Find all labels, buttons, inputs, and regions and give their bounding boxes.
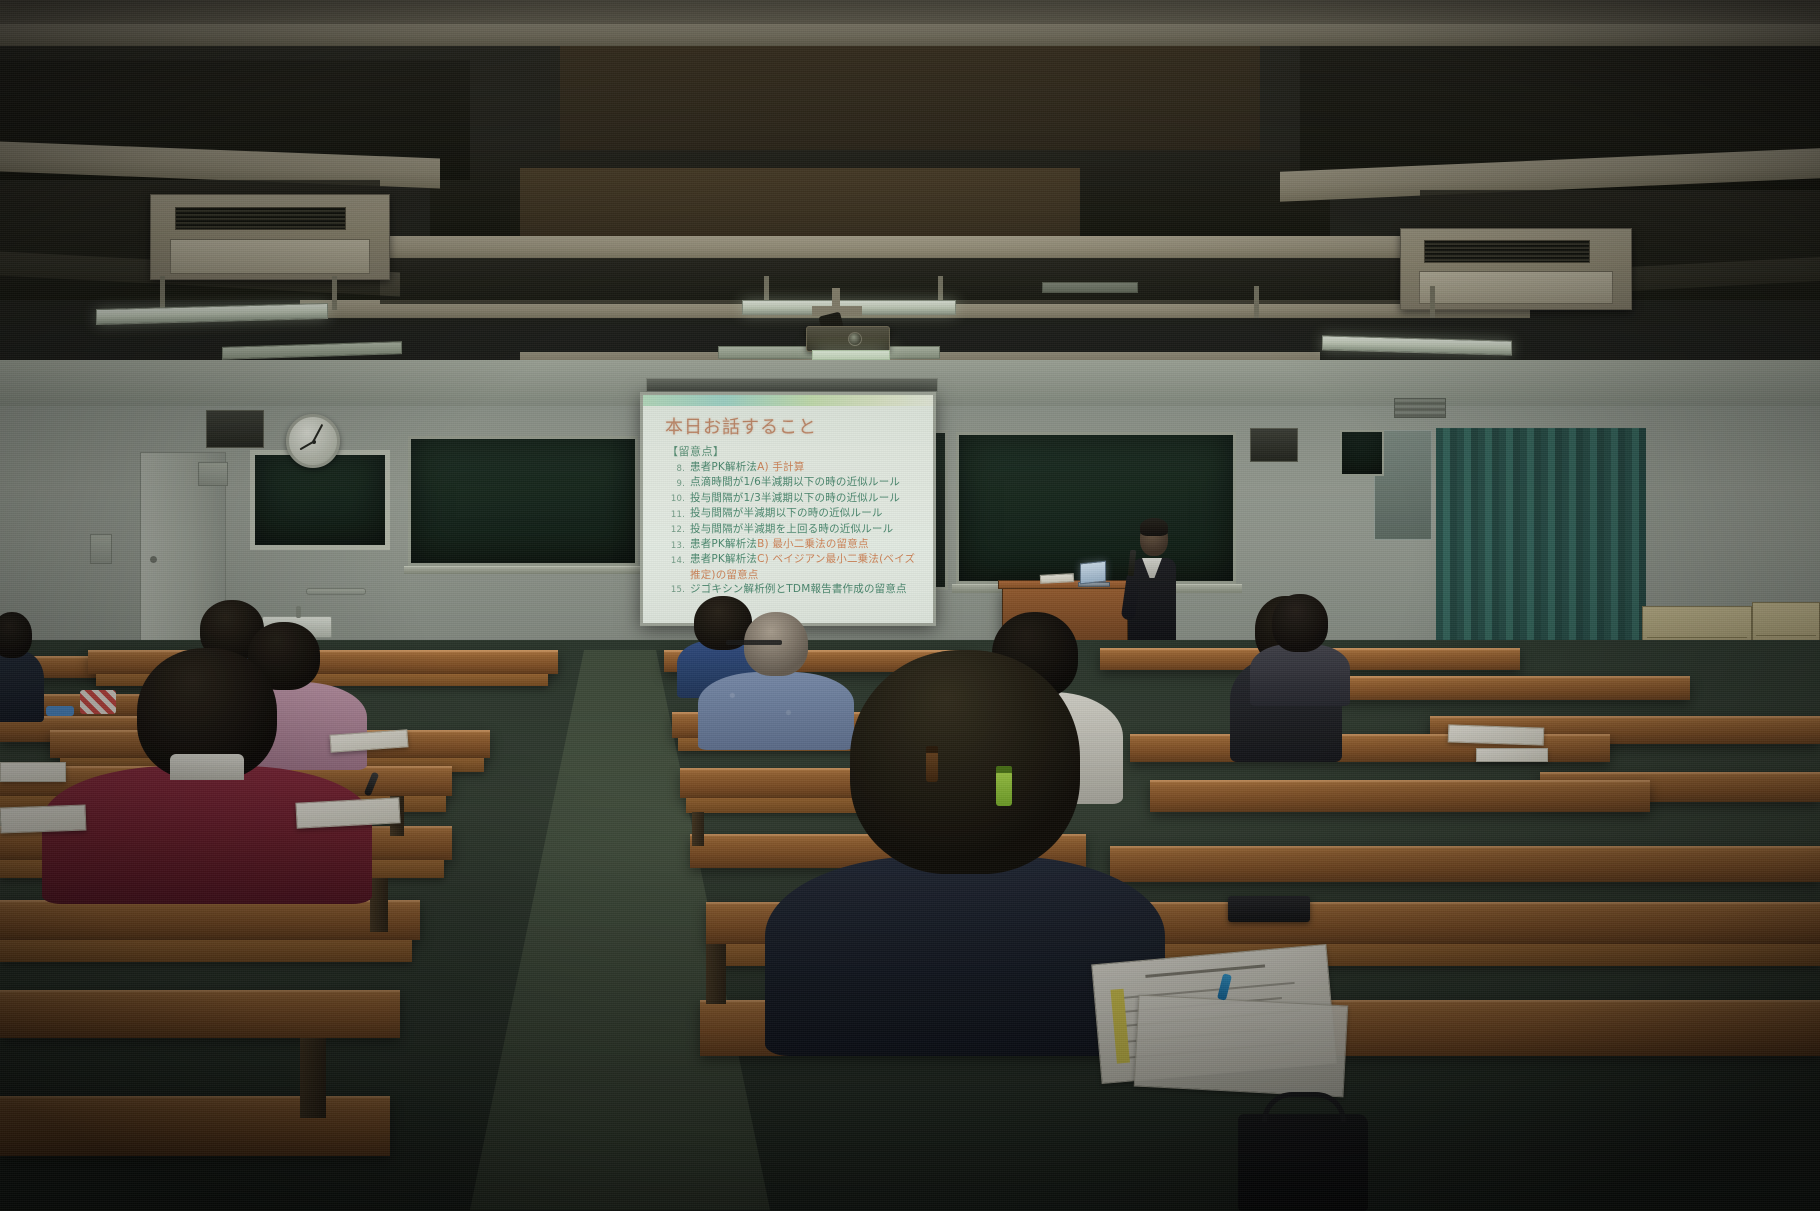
attendee-patterned-glasses [726,640,782,645]
light-rod-a [160,276,165,310]
slide-content: 本日お話すること 【留意点】 8. 患者PK解析法A) 手計算 9. 点滴時間が… [643,395,933,623]
slide-item-13: 13. 患者PK解析法B) 最小二乗法の留意点 [665,538,925,553]
lecture-hall-photo: 本日お話すること 【留意点】 8. 患者PK解析法A) 手計算 9. 点滴時間が… [0,0,1820,1211]
desk-row-7-front [0,1096,390,1156]
ceiling-top-strip [0,0,1820,26]
slide-bullet-list: 8. 患者PK解析法A) 手計算 9. 点滴時間が1/6半減期以下の時の近似ルー… [665,461,925,598]
notes-left-desk-2 [295,797,400,828]
slide-item-8-number: 8. [665,461,685,476]
desk-leg-left-2 [370,878,388,932]
slide-item-14-text: 患者PK解析法C) ベイジアン最小二乗法(ベイズ [690,553,925,566]
slide-item-13-number: 13. [665,538,685,553]
dark-pencil-case [1228,896,1310,922]
ceiling-wood-panel-center [520,168,1080,246]
paper-right-desk-2 [1476,748,1548,762]
attendee-edge-left-torso [0,650,44,722]
slide-item-8: 8. 患者PK解析法A) 手計算 [665,461,925,476]
slide-item-12-text: 投与間隔が半減期を上回る時の近似ルール [690,523,925,536]
window-curtain-right [1436,428,1646,648]
light-rod-e [1254,286,1259,318]
wall-vent-right [1394,398,1446,418]
door-knob [150,556,157,563]
slide-item-11-text: 投与間隔が半減期以下の時の近似ルール [690,507,925,520]
handout-papers-under [1134,995,1349,1098]
attendee-maroon-shirt-collar [170,754,244,780]
wall-clock [286,414,340,468]
brown-bottle-cap [926,746,938,753]
handout-heading-line [1145,964,1265,977]
slide-item-14-continuation-text: 推定)の留意点 [690,569,925,582]
slide-item-10: 10. 投与間隔が1/3半減期以下の時の近似ルール [665,492,925,507]
ceiling-wood-panel-left [560,30,1260,150]
slide-item-12: 12. 投与間隔が半減期を上回る時の近似ルール [665,523,925,538]
projection-screen: 本日お話すること 【留意点】 8. 患者PK解析法A) 手計算 9. 点滴時間が… [640,392,936,626]
desk-row-4-right [1110,846,1820,882]
speaker-right [1250,428,1298,462]
blue-item-left-desk [46,706,74,716]
desk-leg-center-1 [692,812,704,846]
slide-item-9-text: 点滴時間が1/6半減期以下の時の近似ルール [690,476,925,489]
desk-row-3-right [1150,780,1650,812]
ac-unit-left [150,194,390,280]
light-rod-b [332,276,337,310]
wall-switch-panel [90,534,112,564]
attendee-maroon-sweater [52,648,362,898]
display-panel-right [1340,430,1384,476]
projector-lens [848,332,862,346]
clock-center-pin [312,440,316,444]
wall-box-left [198,462,228,486]
chalk-rail-left [404,566,642,574]
paper-right-desk-1 [1448,724,1545,745]
attendee-edge-left-head [0,612,32,658]
attendee-maroon-torso [42,766,372,904]
presenter-hair [1140,518,1168,536]
ac-face-left [170,239,370,274]
ceiling-dark-panel-f [380,258,1440,304]
notes-left-desk [0,805,86,834]
cabinet-seam-2 [1756,635,1817,636]
slide-item-11-number: 11. [665,507,685,522]
attendee-far-right-head [1272,594,1328,652]
slide-top-band [643,395,933,406]
laptop-screen [1080,561,1106,585]
slide-subheading: 【留意点】 [667,443,725,459]
slide-item-14-number: 14. [665,553,685,568]
slide-item-14-continuation: 推定)の留意点 [665,569,925,582]
attendee-far-right-torso [1250,644,1350,706]
slide-item-15-text: ジゴキシン解析例とTDM報告書作成の留意点 [690,583,925,596]
brown-bottle [926,752,938,782]
ac-grille-left [175,207,346,231]
slide-item-14: 14. 患者PK解析法C) ベイジアン最小二乗法(ベイズ [665,553,925,568]
slide-title: 本日お話すること [665,413,817,439]
attendee-navy-head [850,650,1080,874]
green-tea-bottle-cap [996,766,1012,773]
light-rod-f [1430,286,1435,318]
cabinet-seam-1 [1647,637,1746,638]
desk-leg-center-2 [706,944,726,1004]
ac-face-right [1419,271,1612,305]
attendee-far-right [1252,594,1348,702]
bench-row-5-left [0,940,412,962]
speaker-left [206,410,264,448]
slide-item-8-text: 患者PK解析法A) 手計算 [690,461,925,474]
slide-item-12-number: 12. [665,523,685,538]
slide-item-13-text: 患者PK解析法B) 最小二乗法の留意点 [690,538,925,551]
attendee-edge-left [0,610,42,720]
desk-leg-left-3 [300,1038,326,1118]
bag-bottom-right [1238,1114,1368,1211]
presenter [1122,516,1182,656]
podium-papers [1040,573,1074,584]
slide-item-10-text: 投与間隔が1/3半減期以下の時の近似ルール [690,492,925,505]
sink-faucet [296,606,301,618]
slide-item-9-number: 9. [665,476,685,491]
towel-rail [306,588,366,595]
desk-row-6-left [0,990,400,1038]
light-rod-c [764,276,769,302]
chalkboard-left [408,436,638,566]
highlighter-mark [1111,989,1130,1064]
slide-item-10-number: 10. [665,492,685,507]
notes-left-desk-3 [0,762,66,782]
projector-light-output [812,350,890,360]
ceiling-beam-1 [0,24,1820,46]
green-tea-bottle [996,772,1012,806]
ceiling-beam-4 [370,236,1460,258]
ac-grille-right [1424,240,1590,262]
red-white-pouch [80,690,116,714]
slide-item-11: 11. 投与間隔が半減期以下の時の近似ルール [665,507,925,522]
screen-roller-housing [646,378,938,392]
desk-row-5-left [0,900,420,940]
ceiling-light-right-3 [1042,282,1138,293]
light-rod-d [938,276,943,302]
slide-item-9: 9. 点滴時間が1/6半減期以下の時の近似ルール [665,476,925,491]
